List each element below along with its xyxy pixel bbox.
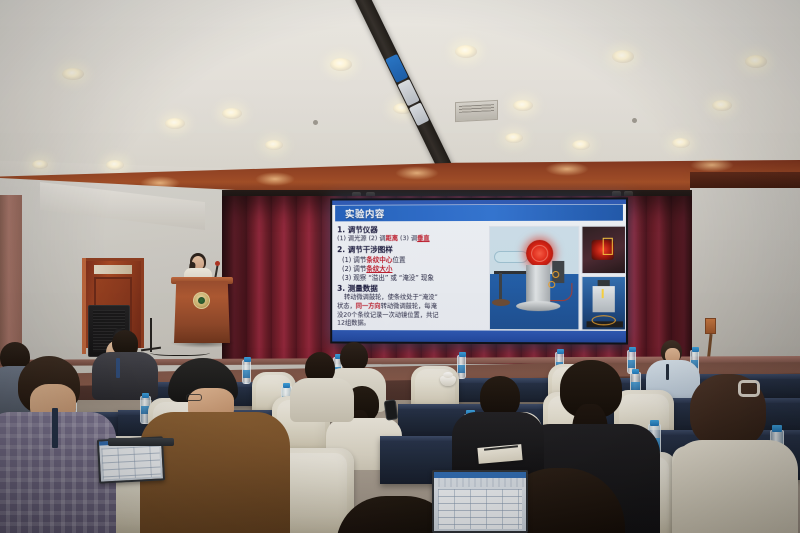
app-toolbar xyxy=(434,478,526,487)
michelson-interferometer-photo xyxy=(489,226,579,331)
slide-line: 3. 测量数据 xyxy=(337,284,484,295)
eyeglasses xyxy=(186,394,202,401)
slide-line: 1. 调节仪器 xyxy=(337,225,484,236)
back-wall-right xyxy=(690,175,800,375)
door-frame xyxy=(82,258,86,354)
ceiling-downlight xyxy=(745,55,767,68)
ceiling-downlight xyxy=(106,160,124,170)
smartphone[interactable] xyxy=(384,399,399,420)
micrometer-body xyxy=(593,286,615,312)
highlight-ellipse xyxy=(592,315,616,325)
optical-post xyxy=(499,273,502,301)
ceiling-downlight xyxy=(572,140,590,150)
callout-marker xyxy=(552,271,559,278)
optical-base xyxy=(492,299,510,306)
ceiling-downlight xyxy=(32,160,48,169)
podium-microphone xyxy=(215,261,220,266)
wall-outlet xyxy=(705,318,716,334)
fascia-light-glow xyxy=(690,158,734,172)
ceiling-downlight xyxy=(612,50,634,63)
fascia-light-glow xyxy=(395,166,439,180)
stage-cable xyxy=(150,348,210,356)
laptop-base[interactable] xyxy=(108,438,174,446)
ceiling-downlight xyxy=(222,108,242,119)
air-conditioning-vent xyxy=(455,100,498,122)
callout-marker xyxy=(548,281,555,288)
slide-line: 2. 调节干涉图样 xyxy=(337,245,484,256)
curtain-shading xyxy=(630,196,692,364)
hair-clip xyxy=(738,380,760,397)
slide-title: 实验内容 xyxy=(335,206,385,220)
slide-line: (3) 观察 “溢出” 或 “淹没” 现象 xyxy=(337,274,484,283)
spreadsheet-grid[interactable] xyxy=(102,446,161,480)
slide-body-text: 1. 调节仪器 (1) 调光源 (2) 调距离 (3) 调垂直 2. 调节干涉图… xyxy=(337,224,484,329)
slide-line: 12组数据。 xyxy=(337,320,484,329)
sprinkler-head xyxy=(313,120,318,125)
fascia-light-glow xyxy=(255,172,295,186)
laser-source-icon xyxy=(526,240,553,267)
water-bottle[interactable] xyxy=(242,360,251,384)
highlight-box xyxy=(603,238,613,255)
podium-emblem xyxy=(193,292,210,309)
spreadsheet-grid[interactable] xyxy=(438,489,523,529)
ceiling-downlight xyxy=(672,138,690,148)
sprinkler-head xyxy=(632,118,637,123)
direction-arrow-icon xyxy=(602,289,604,298)
interferometer-base xyxy=(516,301,560,311)
ceiling-downlight xyxy=(712,100,732,111)
laptop-screen[interactable] xyxy=(432,470,528,533)
slide-title-bar: 实验内容 xyxy=(335,205,623,222)
door-transom xyxy=(94,265,132,274)
ceiling-downlight xyxy=(62,68,84,80)
ceiling-downlight xyxy=(505,133,523,143)
ceiling-downlight xyxy=(455,45,477,58)
led-display-screen[interactable]: 实验内容 1. 调节仪器 (1) 调光源 (2) 调距离 (3) 调垂直 2. … xyxy=(330,197,628,344)
ceiling-downlight xyxy=(265,140,283,150)
slide-line: (2) 调节条纹大小 xyxy=(337,265,484,274)
slide-line: (1) 调光源 (2) 调距离 (3) 调垂直 xyxy=(337,235,484,244)
presentation-slide: 实验内容 1. 调节仪器 (1) 调光源 (2) 调距离 (3) 调垂直 2. … xyxy=(332,199,626,342)
micrometer-drum-photo xyxy=(581,276,626,330)
microphone-stand xyxy=(150,318,152,352)
lecture-hall-photo: 实验内容 1. 调节仪器 (1) 调光源 (2) 调距离 (3) 调垂直 2. … xyxy=(0,0,800,533)
interference-fringes-photo xyxy=(581,226,626,274)
ceiling-downlight xyxy=(513,100,533,111)
ceiling-downlight xyxy=(330,58,352,71)
beam-expander-icon xyxy=(494,251,528,263)
slide-line: 转动微调鼓轮，使条纹处于“淹没” xyxy=(337,294,484,303)
interferometer-column xyxy=(526,265,550,305)
slide-line: 状态，同一方向转动微调鼓轮，每淹 xyxy=(337,303,484,312)
fascia-light-glow xyxy=(545,162,589,176)
slide-line: (1) 调节条纹中心位置 xyxy=(337,256,484,265)
ceiling-downlight xyxy=(165,118,185,129)
podium xyxy=(174,281,230,343)
right-wall-trim xyxy=(690,172,800,188)
